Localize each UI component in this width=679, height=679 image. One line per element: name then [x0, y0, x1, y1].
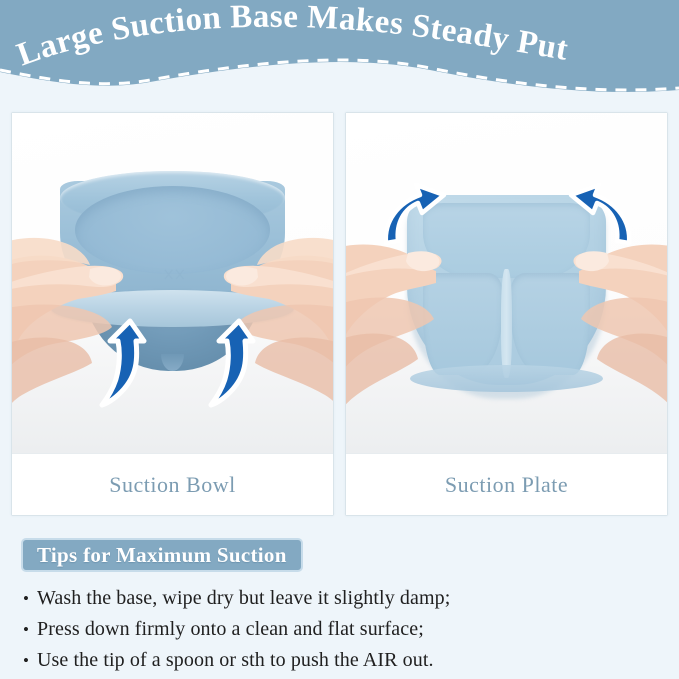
banner-wave-shape [0, 0, 679, 105]
hands-group [12, 113, 333, 454]
right-hand [224, 238, 333, 417]
tips-list: • Wash the base, wipe dry but leave it s… [23, 583, 663, 676]
product-card-suction-bowl[interactable]: Suction Bowl [11, 112, 334, 516]
list-item: • Press down firmly onto a clean and fla… [23, 614, 663, 645]
right-hand [573, 244, 667, 419]
tips-badge: Tips for Maximum Suction [21, 538, 303, 572]
list-item-text: Press down firmly onto a clean and flat … [37, 614, 424, 644]
tips-badge-label: Tips for Maximum Suction [37, 543, 287, 568]
card-caption-suction-bowl: Suction Bowl [12, 454, 333, 515]
bullet-icon: • [23, 646, 37, 676]
infographic-page: Large Suction Base Makes Steady Put [0, 0, 679, 679]
left-hand [346, 244, 442, 419]
left-hand [12, 238, 123, 417]
product-card-suction-plate[interactable]: Suction Plate [345, 112, 668, 516]
bullet-icon: • [23, 584, 37, 614]
list-item-text: Wash the base, wipe dry but leave it sli… [37, 583, 450, 613]
suction-bowl-photo [12, 113, 333, 454]
hands-group [346, 113, 667, 454]
list-item: • Wash the base, wipe dry but leave it s… [23, 583, 663, 614]
bullet-icon: • [23, 615, 37, 645]
card-caption-suction-plate: Suction Plate [346, 454, 667, 515]
suction-plate-photo [346, 113, 667, 454]
list-item: • Use the tip of a spoon or sth to push … [23, 645, 663, 676]
list-item-text: Use the tip of a spoon or sth to push th… [37, 645, 434, 675]
header-banner: Large Suction Base Makes Steady Put [0, 0, 679, 105]
product-card-row: Suction Bowl [11, 112, 668, 516]
